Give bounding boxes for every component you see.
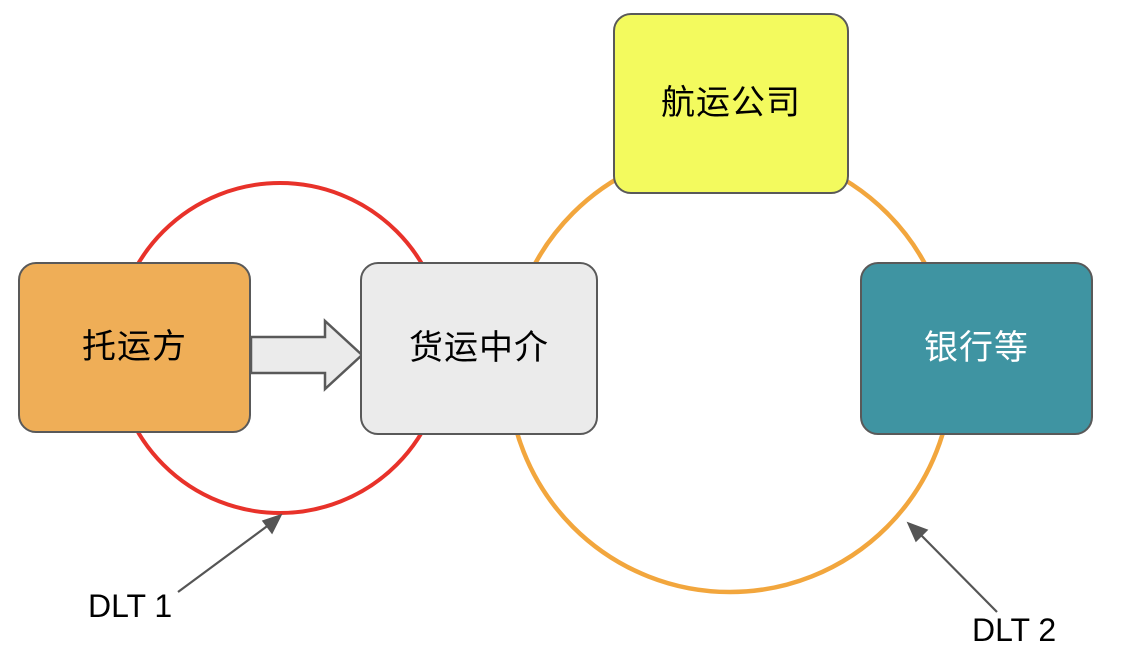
dlt2-leader-arrow bbox=[908, 523, 997, 612]
node-shipping-company[interactable]: 航运公司 bbox=[613, 13, 849, 194]
flow-arrow-shipper-to-forwarder bbox=[251, 321, 362, 389]
node-freight-forwarder-label: 货运中介 bbox=[409, 328, 549, 369]
node-shipper[interactable]: 托运方 bbox=[18, 262, 251, 433]
annotation-label-dlt2: DLT 2 bbox=[972, 612, 1056, 649]
diagram-canvas: 托运方 货运中介 航运公司 银行等 DLT 1 DLT 2 bbox=[0, 0, 1146, 670]
node-shipping-company-label: 航运公司 bbox=[661, 83, 801, 124]
node-shipper-label: 托运方 bbox=[82, 327, 187, 368]
dlt1-leader-arrow bbox=[178, 515, 281, 592]
node-bank[interactable]: 银行等 bbox=[860, 262, 1093, 435]
annotation-label-dlt1: DLT 1 bbox=[88, 588, 172, 625]
node-freight-forwarder[interactable]: 货运中介 bbox=[360, 262, 598, 435]
node-bank-label: 银行等 bbox=[924, 328, 1029, 369]
